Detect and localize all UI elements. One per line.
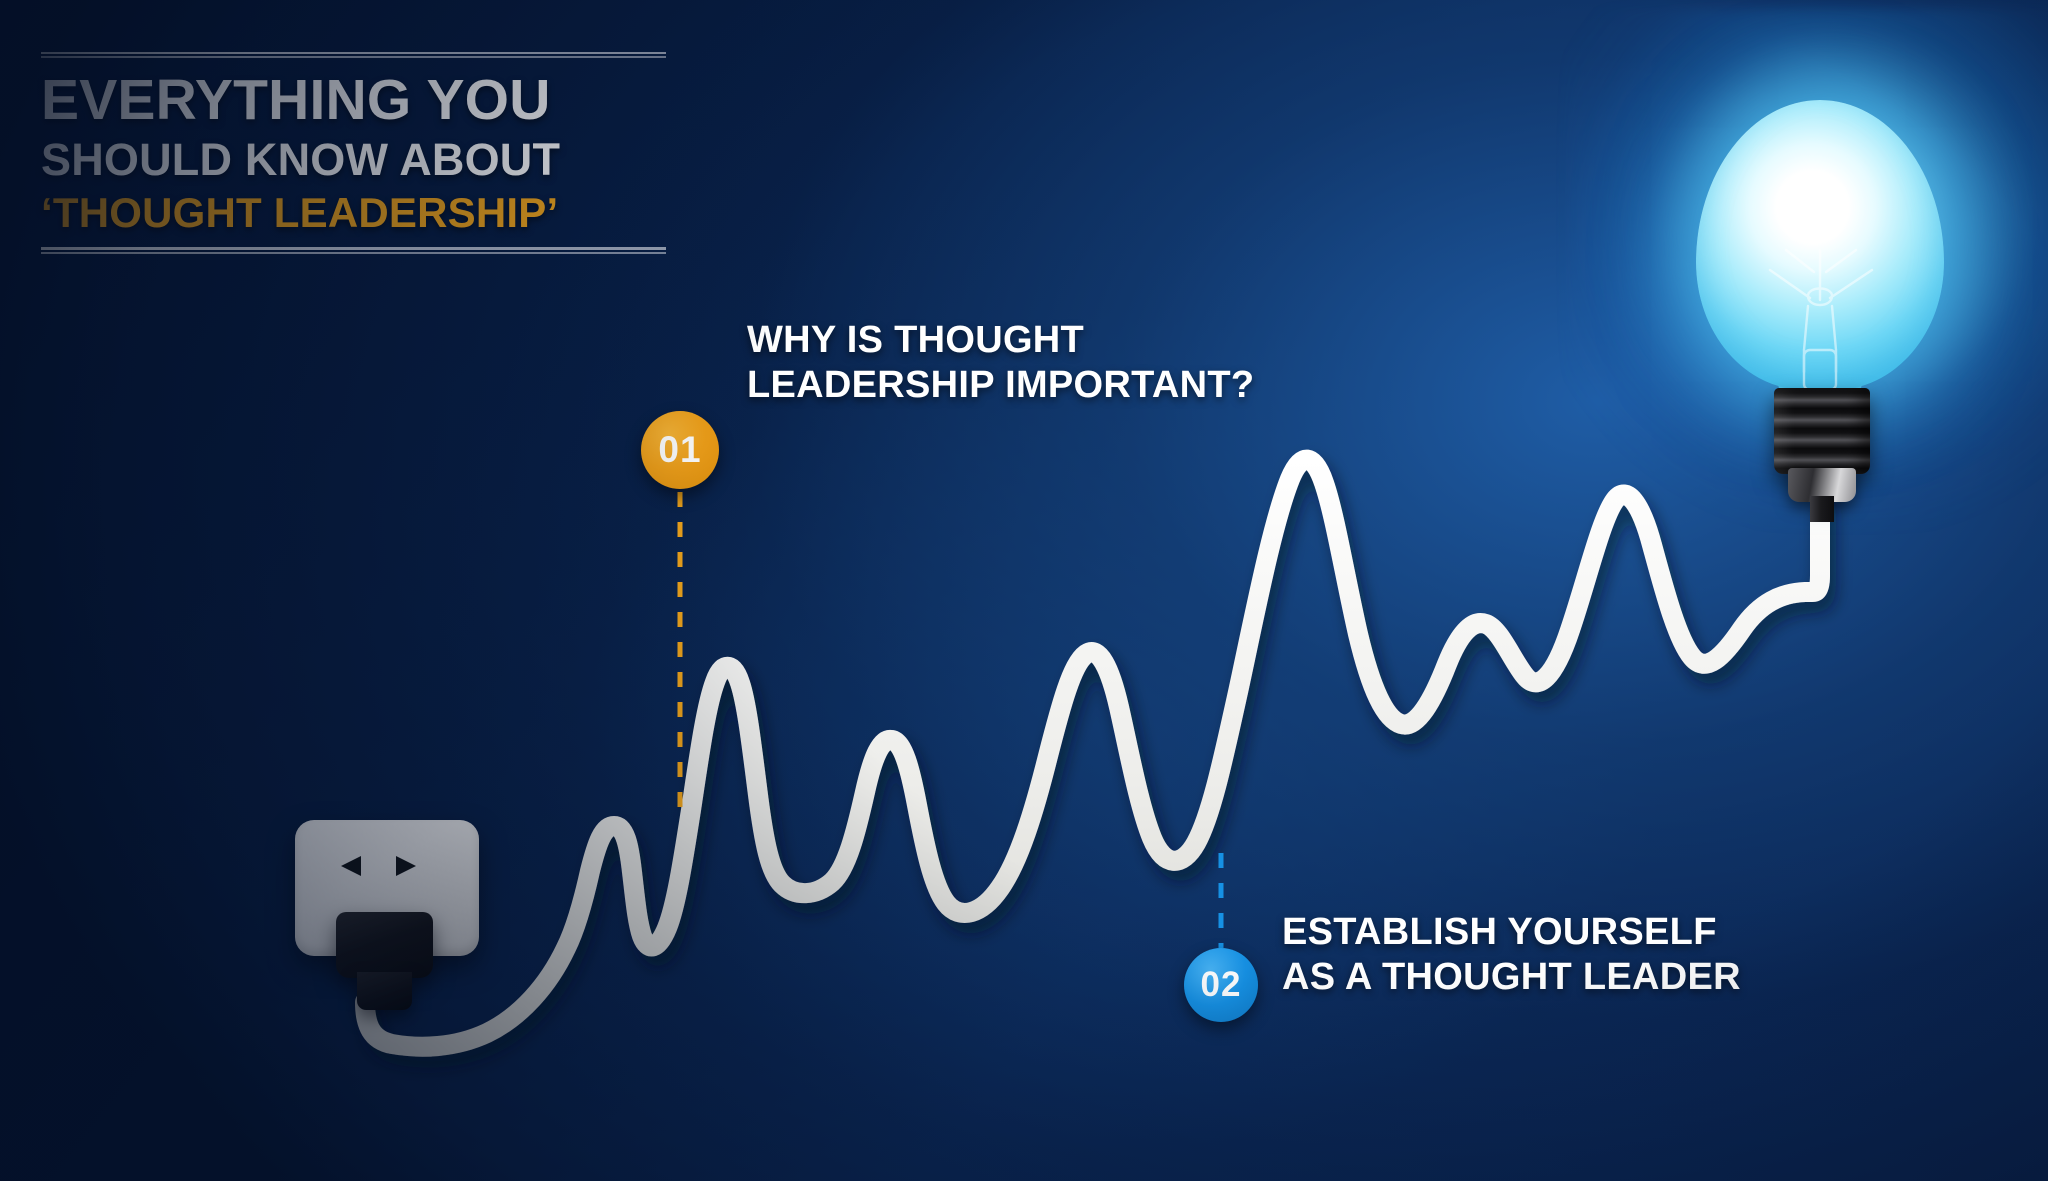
bulb-base-contact [1810,496,1834,522]
step-01[interactable]: 01 WHY IS THOUGHT LEADERSHIP IMPORTANT? [641,411,719,489]
step-02-label-line-2: AS A THOUGHT LEADER [1282,955,1982,1000]
socket-slot-right-icon [396,856,416,876]
glowing-light-bulb-icon [1636,58,2048,528]
plug-neck [357,972,412,1010]
step-01-number: 01 [658,431,701,468]
wall-socket-plug-icon [295,820,485,1000]
title-line-1: EVERYTHING YOU [41,63,666,129]
title-line-2: SHOULD KNOW ABOUT [41,129,666,183]
step-01-label-line-1: WHY IS THOUGHT [747,318,1407,363]
bulb-screw-base [1774,388,1870,474]
page-title: EVERYTHING YOU SHOULD KNOW ABOUT ‘THOUGH… [41,52,666,254]
title-line-3-accent: ‘THOUGHT LEADERSHIP’ [41,183,666,245]
infographic-canvas: EVERYTHING YOU SHOULD KNOW ABOUT ‘THOUGH… [0,0,2048,1181]
step-02-number: 02 [1201,967,1242,1002]
step-02-label-line-1: ESTABLISH YOURSELF [1282,910,1982,955]
step-02[interactable]: 02 ESTABLISH YOURSELF AS A THOUGHT LEADE… [1184,948,1258,1022]
title-rule-bottom [41,247,666,254]
step-01-label: WHY IS THOUGHT LEADERSHIP IMPORTANT? [747,318,1407,408]
plug-body [336,912,433,978]
step-01-label-line-2: LEADERSHIP IMPORTANT? [747,363,1407,408]
step-02-label: ESTABLISH YOURSELF AS A THOUGHT LEADER [1282,910,1982,1000]
step-01-badge[interactable]: 01 [641,411,719,489]
socket-slot-left-icon [341,856,361,876]
step-02-badge[interactable]: 02 [1184,948,1258,1022]
title-rule-top [41,52,666,59]
bulb-filament-icon [1696,100,1944,400]
